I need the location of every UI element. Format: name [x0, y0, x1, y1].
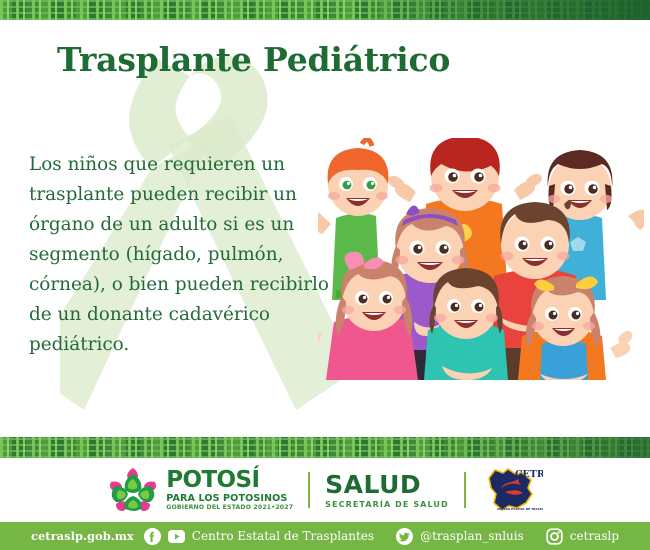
salud-sub-text: SECRETARÍA DE SALUD: [325, 501, 449, 509]
instagram-handle[interactable]: cetraslp: [570, 529, 619, 543]
cetra-sub-text: CENTRO ESTATAL DE TRASPLANTES: [497, 507, 543, 511]
potosi-main-text: POTOSÍ: [166, 469, 293, 492]
facebook-page-name[interactable]: Centro Estatal de Trasplantes: [192, 529, 374, 543]
cetra-map-icon: CETRA CENTRO ESTATAL DE TRASPLANTES: [481, 464, 543, 516]
social-media-bar: cetraslp.gob.mx Centro Estatal de Traspl…: [0, 522, 650, 550]
logo-divider-1: [308, 472, 310, 508]
body-text: Los niños que requieren un trasplante pu…: [29, 150, 349, 360]
potosi-government-text: GOBIERNO DEL ESTADO 2021•2027: [166, 505, 293, 511]
top-pattern-fade: [350, 0, 650, 20]
page-title: Trasplante Pediátrico: [57, 40, 450, 79]
website-url[interactable]: cetraslp.gob.mx: [31, 529, 134, 543]
potosi-sub-text: PARA LOS POTOSINOS: [166, 494, 293, 504]
footer-logo-strip: POTOSÍ PARA LOS POTOSINOS GOBIERNO DEL E…: [0, 458, 650, 522]
potosi-logo: POTOSÍ PARA LOS POTOSINOS GOBIERNO DEL E…: [107, 466, 293, 514]
children-illustration: [318, 138, 644, 380]
potosi-wordmark: POTOSÍ PARA LOS POTOSINOS GOBIERNO DEL E…: [166, 469, 293, 512]
child-front-right: [518, 276, 632, 380]
logo-divider-2: [464, 472, 466, 508]
salud-logo: SALUD SECRETARÍA DE SALUD: [325, 472, 449, 509]
floral-emblem-icon: [107, 466, 159, 514]
poster-canvas: Trasplante Pediátrico Los niños que requ…: [0, 0, 650, 550]
facebook-icon[interactable]: [144, 528, 161, 545]
cetra-logo: CETRA CENTRO ESTATAL DE TRASPLANTES: [481, 464, 543, 516]
salud-main-text: SALUD: [325, 472, 449, 497]
instagram-icon[interactable]: [546, 528, 563, 545]
bottom-pattern-fade: [420, 437, 650, 458]
cetra-wordmark: CETRA: [515, 469, 543, 480]
twitter-icon[interactable]: [396, 528, 413, 545]
youtube-icon[interactable]: [168, 528, 185, 545]
twitter-handle[interactable]: @trasplan_snluis: [420, 529, 524, 543]
